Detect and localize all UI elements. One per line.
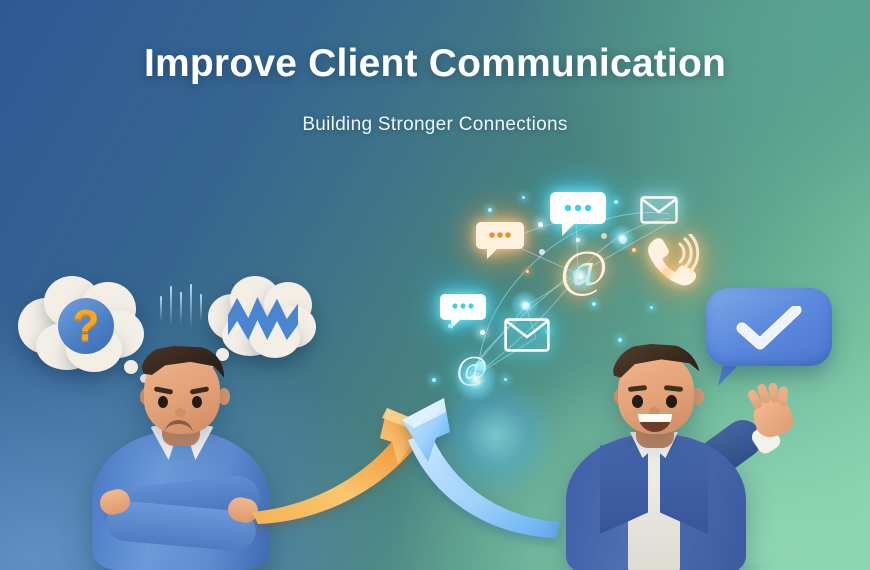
glow-burst bbox=[564, 260, 598, 294]
eye-right bbox=[192, 396, 202, 408]
eye-left bbox=[158, 396, 168, 408]
eye-right bbox=[666, 395, 677, 408]
envelope-icon bbox=[504, 318, 550, 357]
nose bbox=[175, 408, 186, 417]
eye-left bbox=[632, 395, 643, 408]
particle bbox=[632, 248, 636, 252]
chat-bubble-icon bbox=[476, 220, 524, 265]
glow-burst bbox=[510, 290, 540, 320]
particle bbox=[592, 302, 596, 306]
hero-illustration: Improve Client Communication Building St… bbox=[0, 0, 870, 570]
particle bbox=[538, 222, 543, 227]
glow-burst bbox=[454, 358, 498, 402]
page-title: Improve Client Communication bbox=[0, 42, 870, 86]
particle bbox=[448, 324, 452, 328]
chat-bubble-icon bbox=[550, 190, 606, 241]
particle bbox=[504, 378, 507, 381]
particle bbox=[650, 306, 653, 309]
approval-speech-bubble bbox=[706, 288, 832, 388]
particle bbox=[432, 378, 436, 382]
particle bbox=[614, 200, 618, 204]
particle bbox=[526, 270, 529, 273]
particle bbox=[488, 208, 492, 212]
particle bbox=[522, 196, 525, 199]
particle bbox=[480, 330, 485, 335]
check-mark-icon bbox=[736, 306, 802, 350]
orange-growth-arrow bbox=[252, 408, 426, 524]
particle bbox=[546, 330, 549, 333]
particle bbox=[664, 270, 669, 275]
chat-bubble-icon bbox=[440, 292, 486, 335]
envelope-icon bbox=[640, 196, 678, 229]
phone-ring-icon bbox=[644, 234, 700, 291]
page-subtitle: Building Stronger Connections bbox=[0, 114, 870, 136]
particle bbox=[576, 238, 580, 242]
